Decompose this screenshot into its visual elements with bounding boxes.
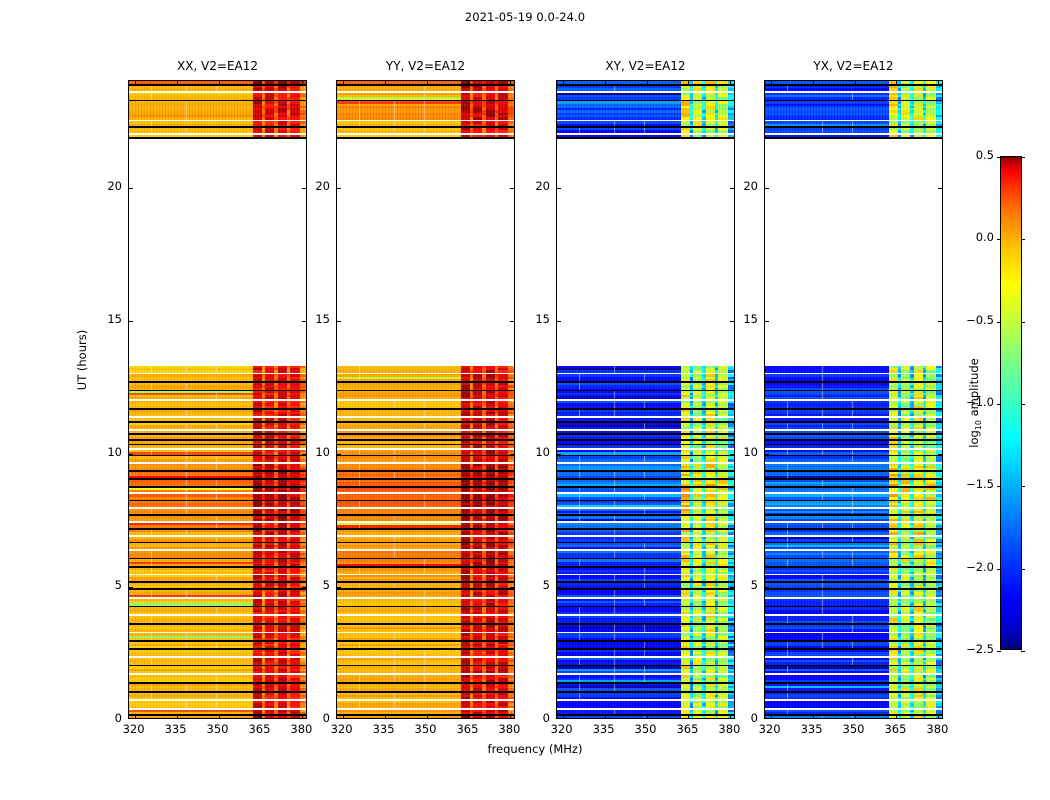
scan-row	[557, 701, 734, 708]
raster-texture	[129, 599, 306, 606]
scan-row	[337, 666, 514, 673]
scan-row	[557, 93, 734, 100]
x-tick	[563, 714, 564, 718]
scan-row	[129, 684, 306, 691]
raster-texture	[557, 383, 734, 390]
scan-row	[129, 607, 306, 614]
x-tick	[135, 714, 136, 718]
scan-row	[337, 590, 514, 597]
raster-texture	[337, 366, 514, 373]
scan-row	[337, 401, 514, 408]
raster-texture	[557, 401, 734, 408]
raster-texture	[765, 391, 942, 399]
scan-row	[557, 684, 734, 691]
x-tick	[219, 714, 220, 718]
raster-texture	[765, 383, 942, 390]
x-tick	[260, 714, 261, 718]
scan-row	[765, 366, 942, 373]
y-tick	[337, 587, 341, 588]
raster-yy	[337, 81, 514, 718]
scan-row	[129, 93, 306, 100]
raster-texture	[337, 675, 514, 682]
raster-texture	[129, 616, 306, 623]
x-tick	[510, 714, 511, 718]
raster-texture	[765, 401, 942, 408]
raster-texture	[337, 410, 514, 417]
scan-row	[765, 410, 942, 417]
scan-row	[557, 401, 734, 408]
x-tick	[343, 81, 344, 85]
raster-texture	[337, 666, 514, 673]
scan-row	[129, 551, 306, 558]
scan-row	[129, 701, 306, 708]
scan-row	[557, 391, 734, 399]
scan-row	[337, 383, 514, 390]
raster-texture	[129, 93, 306, 100]
scan-row	[129, 716, 306, 718]
scan-row	[557, 366, 734, 373]
raster-texture	[765, 366, 942, 373]
y-tick	[129, 587, 133, 588]
raster-texture	[557, 551, 734, 558]
raster-texture	[337, 716, 514, 718]
raster-texture	[557, 599, 734, 606]
raster-texture	[129, 391, 306, 399]
figure-canvas: 2021-05-19 0.0-24.0 XX, V2=EA12 YY, V2=E…	[0, 0, 1050, 800]
x-tick	[302, 81, 303, 85]
scan-row	[557, 599, 734, 606]
scan-row	[129, 625, 306, 632]
scan-row	[557, 410, 734, 417]
scan-row	[129, 658, 306, 665]
raster-texture	[557, 559, 734, 566]
scan-row	[337, 607, 514, 614]
scan-row	[129, 666, 306, 673]
scan-row	[337, 410, 514, 417]
raster-texture	[557, 101, 734, 119]
y-tick	[129, 454, 133, 455]
scan-row	[557, 616, 734, 623]
heatmap-panel-yx[interactable]	[764, 80, 943, 719]
raster-texture	[557, 675, 734, 682]
raster-texture	[557, 666, 734, 673]
scan-row	[557, 607, 734, 614]
y-tick	[510, 587, 514, 588]
raster-texture	[129, 551, 306, 558]
scan-row	[129, 374, 306, 381]
raster-texture	[337, 590, 514, 597]
raster-texture	[129, 658, 306, 665]
scan-row	[129, 559, 306, 566]
raster-yx	[765, 81, 942, 718]
y-tick	[557, 188, 561, 189]
raster-texture	[557, 590, 734, 597]
raster-texture	[557, 93, 734, 100]
scan-row	[337, 675, 514, 682]
scan-row	[557, 625, 734, 632]
x-tick	[427, 81, 428, 85]
scan-row	[557, 675, 734, 682]
y-tick	[129, 321, 133, 322]
scan-row	[129, 366, 306, 373]
raster-texture	[337, 374, 514, 381]
x-tick	[343, 714, 344, 718]
raster-texture	[557, 410, 734, 417]
scan-row	[765, 374, 942, 381]
raster-texture	[129, 684, 306, 691]
y-tick	[510, 321, 514, 322]
scan-row	[337, 599, 514, 606]
raster-texture	[129, 559, 306, 566]
scan-row	[337, 559, 514, 566]
scan-row	[557, 374, 734, 381]
x-tick	[647, 714, 648, 718]
scan-row	[765, 383, 942, 390]
panel-title-yy: YY, V2=EA12	[336, 59, 515, 77]
scan-gap	[557, 144, 734, 366]
raster-texture	[557, 716, 734, 718]
raster-texture	[337, 559, 514, 566]
panel-title-xy: XY, V2=EA12	[556, 59, 735, 77]
scan-row	[765, 93, 942, 100]
x-tick	[135, 81, 136, 85]
raster-texture	[129, 401, 306, 408]
figure-suptitle: 2021-05-19 0.0-24.0	[0, 10, 1050, 24]
raster-texture	[337, 616, 514, 623]
y-tick	[510, 454, 514, 455]
scan-gap	[129, 144, 306, 366]
x-tick	[510, 81, 511, 85]
scan-row	[129, 616, 306, 623]
x-tick	[219, 81, 220, 85]
scan-row	[557, 658, 734, 665]
raster-texture	[557, 374, 734, 381]
scan-row	[129, 401, 306, 408]
scan-row	[557, 101, 734, 119]
scan-row	[557, 633, 734, 640]
x-tick	[468, 81, 469, 85]
heatmap-panel-yy[interactable]	[336, 80, 515, 719]
raster-texture	[337, 633, 514, 640]
raster-texture	[337, 383, 514, 390]
scan-row	[129, 383, 306, 390]
scan-row	[337, 616, 514, 623]
scan-row	[337, 625, 514, 632]
raster-texture	[557, 366, 734, 373]
x-tick	[730, 81, 731, 85]
raster-texture	[129, 374, 306, 381]
raster-texture	[765, 101, 942, 119]
x-tick	[385, 714, 386, 718]
x-tick	[427, 714, 428, 718]
raster-texture	[337, 607, 514, 614]
scan-row	[765, 101, 942, 119]
raster-texture	[337, 101, 514, 119]
raster-texture	[129, 701, 306, 708]
raster-texture	[337, 625, 514, 632]
heatmap-panel-xy[interactable]	[556, 80, 735, 719]
raster-texture	[337, 93, 514, 100]
scan-row	[337, 701, 514, 708]
x-tick	[605, 714, 606, 718]
panel-title-yx: YX, V2=EA12	[764, 59, 943, 77]
y-tick	[557, 321, 561, 322]
raster-texture	[129, 675, 306, 682]
panel-title-xx: XX, V2=EA12	[128, 59, 307, 77]
raster-xy	[557, 81, 734, 718]
raster-texture	[129, 716, 306, 718]
y-tick	[557, 587, 561, 588]
scan-row	[337, 93, 514, 100]
raster-texture	[337, 684, 514, 691]
raster-texture	[337, 701, 514, 708]
scan-row	[765, 391, 942, 399]
raster-texture	[557, 616, 734, 623]
raster-texture	[557, 391, 734, 399]
raster-texture	[129, 590, 306, 597]
raster-texture	[557, 607, 734, 614]
heatmap-panel-xx[interactable]	[128, 80, 307, 719]
x-tick	[260, 81, 261, 85]
scan-row	[129, 410, 306, 417]
raster-texture	[129, 101, 306, 119]
scan-row	[129, 633, 306, 640]
y-tick	[129, 188, 133, 189]
scan-gap	[765, 144, 942, 366]
raster-texture	[129, 366, 306, 373]
raster-texture	[129, 625, 306, 632]
x-tick	[468, 714, 469, 718]
scan-row	[337, 391, 514, 399]
raster-texture	[557, 633, 734, 640]
scan-row	[557, 383, 734, 390]
raster-texture	[765, 374, 942, 381]
x-tick	[688, 81, 689, 85]
raster-texture	[557, 625, 734, 632]
scan-row	[337, 366, 514, 373]
scan-row	[557, 716, 734, 718]
scan-row	[337, 551, 514, 558]
x-tick	[688, 714, 689, 718]
y-tick	[557, 454, 561, 455]
x-tick	[605, 81, 606, 85]
scan-row	[337, 684, 514, 691]
scan-row	[337, 658, 514, 665]
raster-texture	[337, 599, 514, 606]
raster-texture	[557, 684, 734, 691]
raster-texture	[765, 410, 942, 417]
scan-row	[129, 590, 306, 597]
scan-gap	[337, 144, 514, 366]
scan-row	[129, 101, 306, 119]
raster-xx	[129, 81, 306, 718]
raster-texture	[129, 383, 306, 390]
raster-texture	[557, 701, 734, 708]
scan-row	[337, 101, 514, 119]
scan-row	[129, 599, 306, 606]
raster-texture	[337, 551, 514, 558]
scan-row	[337, 716, 514, 718]
scan-row	[557, 590, 734, 597]
y-tick	[337, 188, 341, 189]
raster-texture	[337, 401, 514, 408]
scan-row	[557, 551, 734, 558]
scan-row	[765, 401, 942, 408]
x-tick	[177, 714, 178, 718]
x-tick	[177, 81, 178, 85]
y-tick	[337, 454, 341, 455]
raster-texture	[129, 607, 306, 614]
raster-texture	[765, 93, 942, 100]
scan-row	[337, 374, 514, 381]
scan-row	[557, 559, 734, 566]
raster-texture	[557, 658, 734, 665]
x-tick	[563, 81, 564, 85]
scan-row	[129, 675, 306, 682]
scan-row	[557, 666, 734, 673]
scan-row	[129, 391, 306, 399]
raster-texture	[129, 410, 306, 417]
scan-row	[337, 633, 514, 640]
raster-texture	[129, 666, 306, 673]
y-tick	[510, 188, 514, 189]
x-tick	[647, 81, 648, 85]
raster-texture	[337, 658, 514, 665]
y-tick	[337, 321, 341, 322]
raster-texture	[337, 391, 514, 399]
raster-texture	[129, 633, 306, 640]
x-tick	[385, 81, 386, 85]
